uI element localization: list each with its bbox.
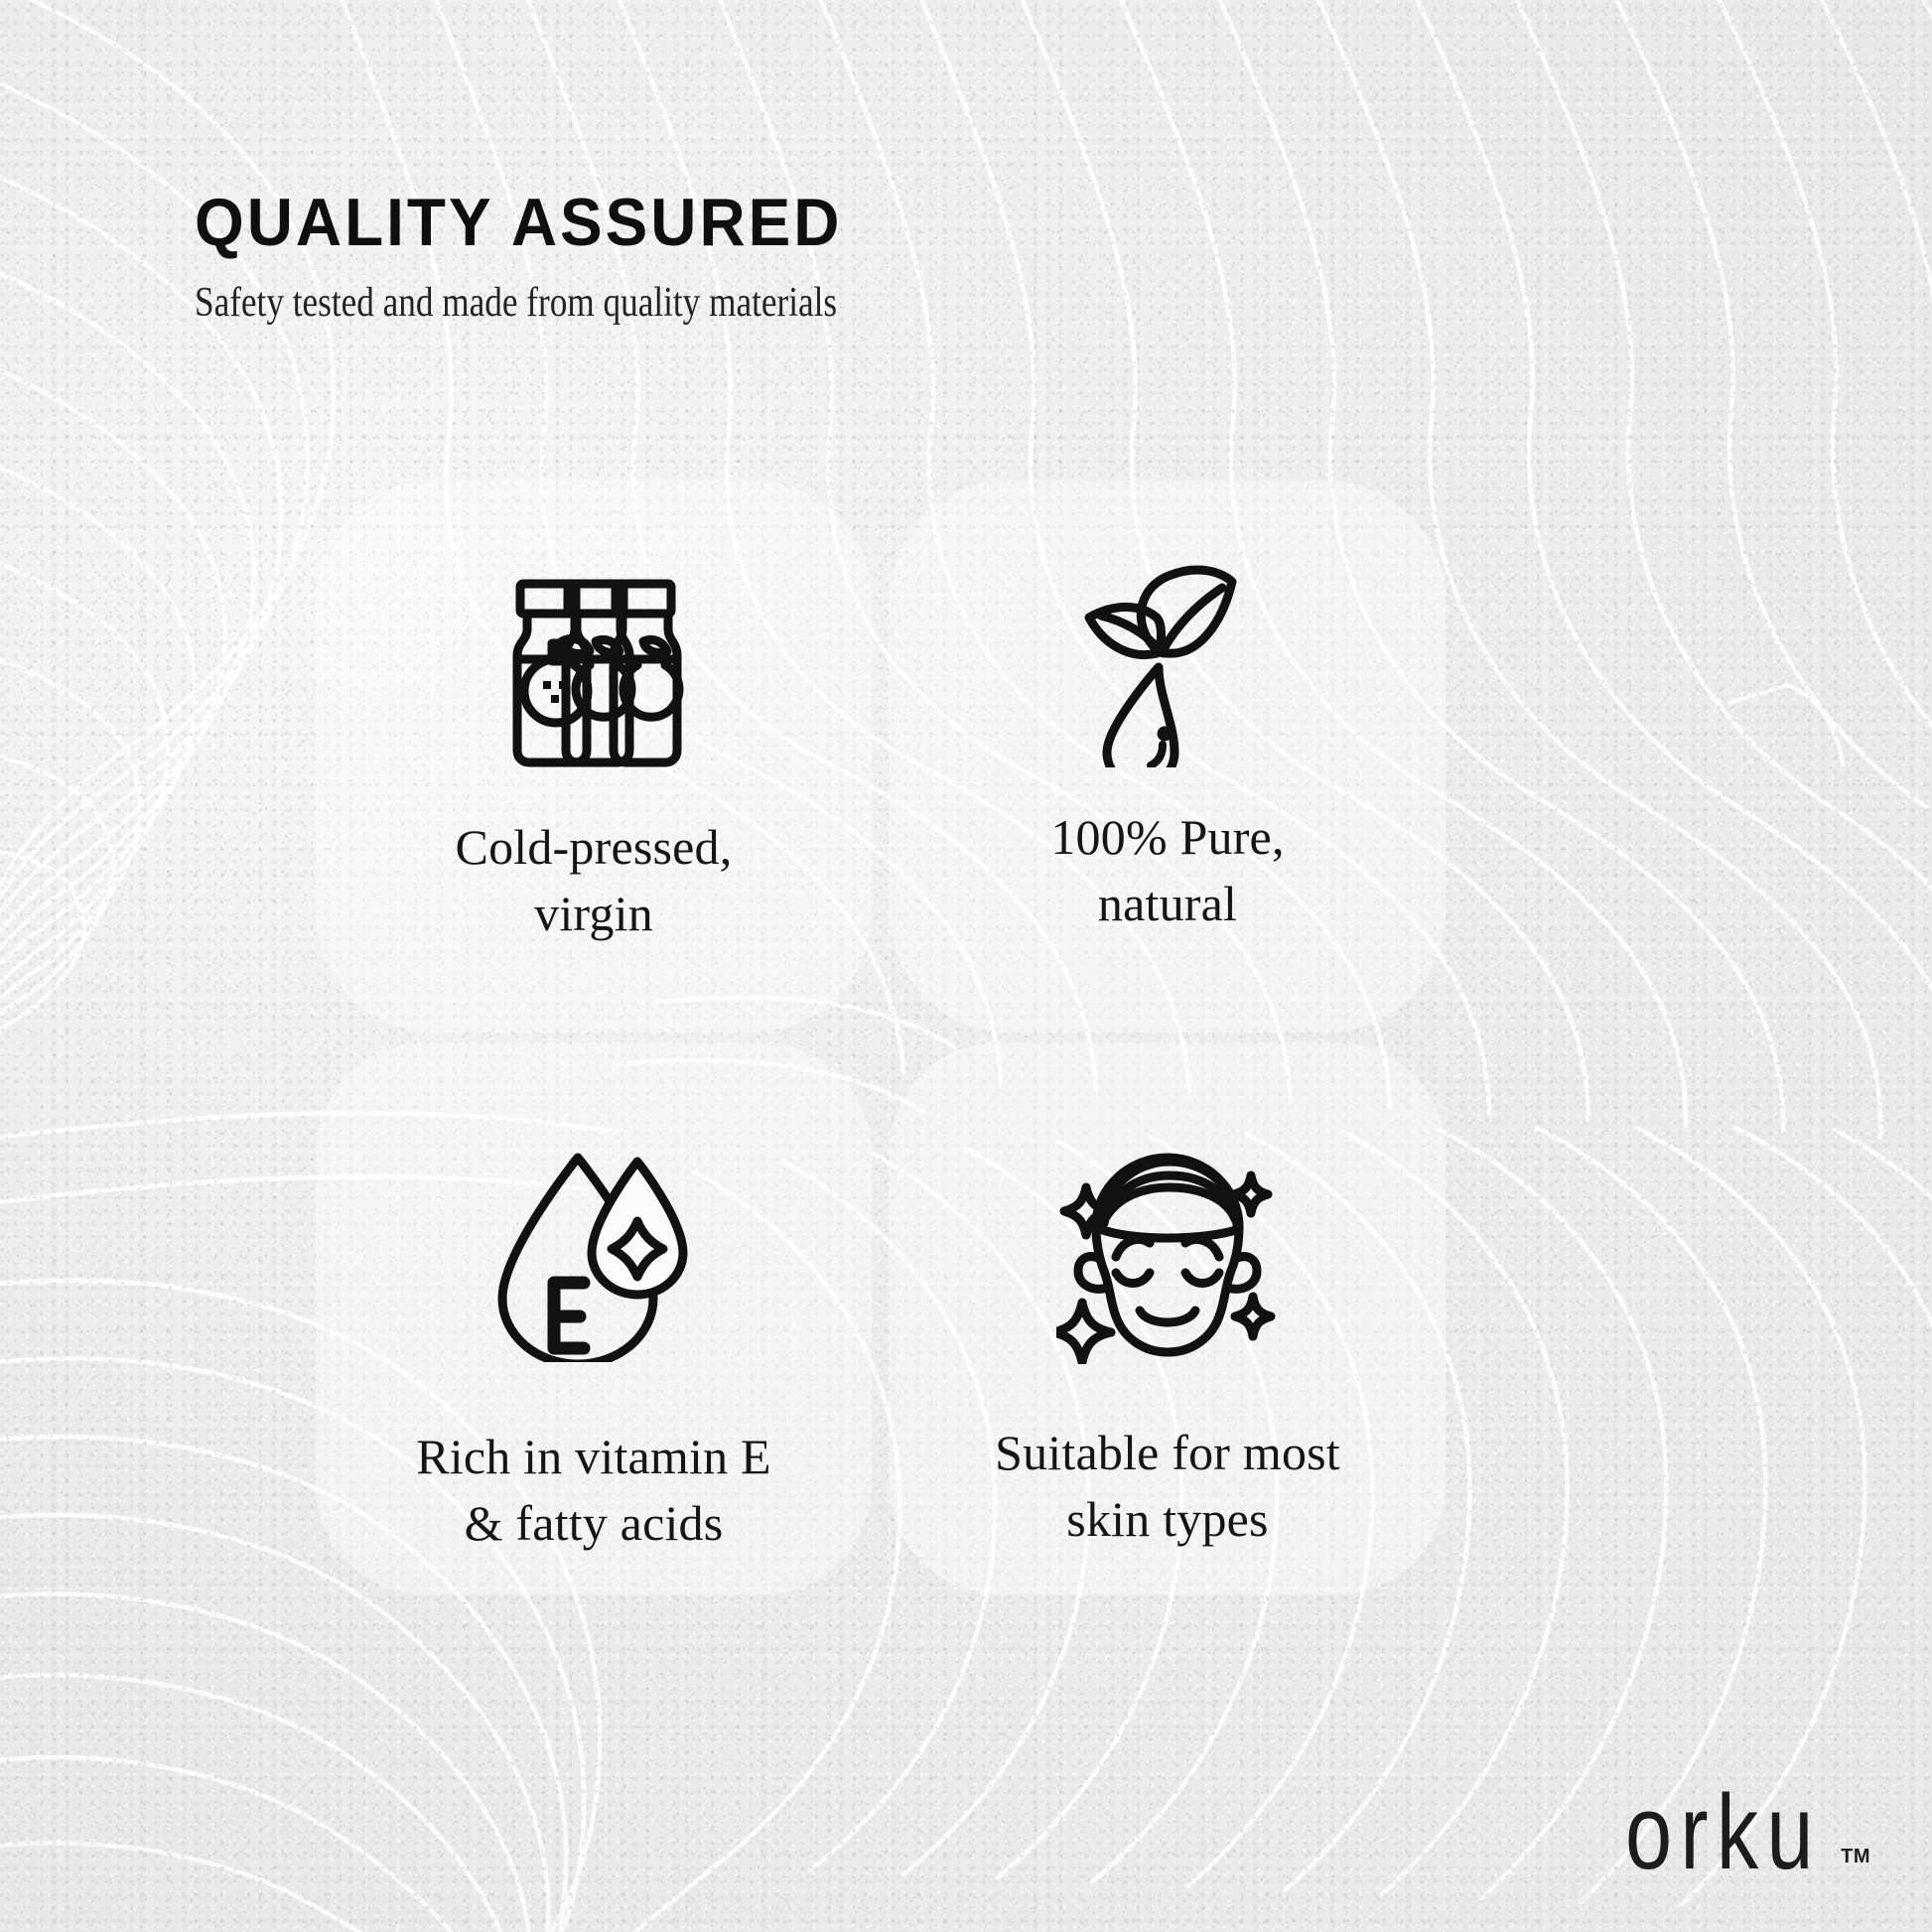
feature-label: Rich in vitamin E & fatty acids <box>416 1424 771 1556</box>
feature-card-skin-types: Suitable for most skin types <box>890 1042 1446 1594</box>
leaf-droplet-icon <box>1073 566 1262 764</box>
quality-assured-infographic: QUALITY ASSURED Safety tested and made f… <box>0 0 1932 1932</box>
feature-label: Cold-pressed, virgin <box>456 814 733 946</box>
feature-card-cold-pressed: Cold-pressed, virgin <box>316 481 872 1033</box>
feature-card-pure-natural: 100% Pure, natural <box>890 481 1446 1033</box>
feature-grid: Cold-pressed, virgin 100% <box>316 481 1606 1594</box>
jars-of-preserve-icon <box>490 576 697 774</box>
header: QUALITY ASSURED Safety tested and made f… <box>195 189 1386 322</box>
vitamin-e-droplet-icon <box>494 1148 693 1362</box>
page-title: QUALITY ASSURED <box>195 189 1314 256</box>
feature-label: 100% Pure, natural <box>1050 804 1284 936</box>
glowing-face-icon <box>1056 1142 1279 1364</box>
brand-name: orku <box>1625 1789 1822 1876</box>
trademark-symbol: TM <box>1841 1846 1870 1868</box>
brand-logo: orku TM <box>1625 1802 1870 1876</box>
feature-label: Suitable for most skin types <box>995 1420 1340 1552</box>
page-subtitle: Safety tested and made from quality mate… <box>195 281 1243 323</box>
feature-card-vitamin-e: Rich in vitamin E & fatty acids <box>316 1042 872 1594</box>
